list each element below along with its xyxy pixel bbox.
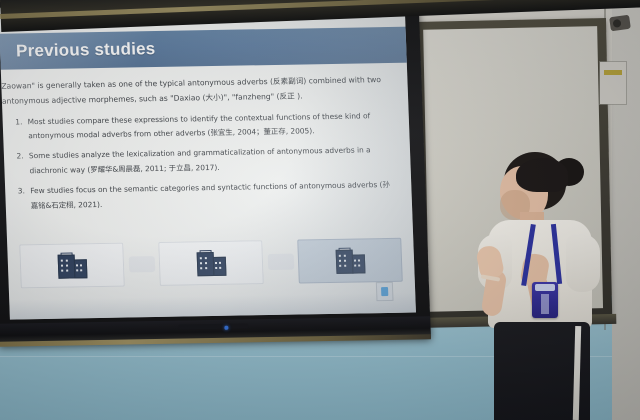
wall-plate-sticker [604, 70, 622, 75]
presenter [470, 150, 640, 420]
list-item: Some studies analyze the lexicalization … [26, 143, 395, 178]
list-item: Few studies focus on the semantic catego… [27, 178, 396, 213]
sleeve-right [566, 234, 600, 292]
presentation-slide: Previous studies Zaowan" is generally ta… [0, 1, 416, 320]
classroom-photo: Previous studies Zaowan" is generally ta… [0, 0, 640, 420]
id-badge-header [535, 284, 555, 291]
slide-icon-card-row [19, 237, 403, 290]
icon-card-2[interactable] [158, 240, 264, 286]
display-power-led-icon [224, 326, 228, 330]
ceiling-speaker-icon [609, 15, 631, 32]
slide-title: Previous studies [16, 39, 156, 61]
building-icon [196, 250, 227, 277]
app-tile-icon[interactable] [377, 283, 393, 300]
icon-card-3-selected[interactable] [297, 238, 403, 284]
card-spacer [128, 256, 155, 272]
building-icon [335, 247, 366, 274]
wall-control-plate[interactable] [600, 62, 626, 104]
hair-front [516, 158, 568, 192]
slide-title-bar: Previous studies [0, 27, 413, 70]
slide-lead-paragraph: Zaowan" is generally taken as one of the… [0, 73, 398, 110]
projection-display: Previous studies Zaowan" is generally ta… [0, 0, 431, 350]
icon-card-1[interactable] [19, 243, 125, 289]
card-spacer [267, 254, 294, 270]
building-icon [57, 252, 88, 279]
slide-body: Zaowan" is generally taken as one of the… [0, 73, 402, 220]
list-item: Most studies compare these expressions t… [24, 108, 393, 143]
id-badge-text [541, 294, 549, 314]
slide-point-list: Most studies compare these expressions t… [0, 108, 402, 214]
